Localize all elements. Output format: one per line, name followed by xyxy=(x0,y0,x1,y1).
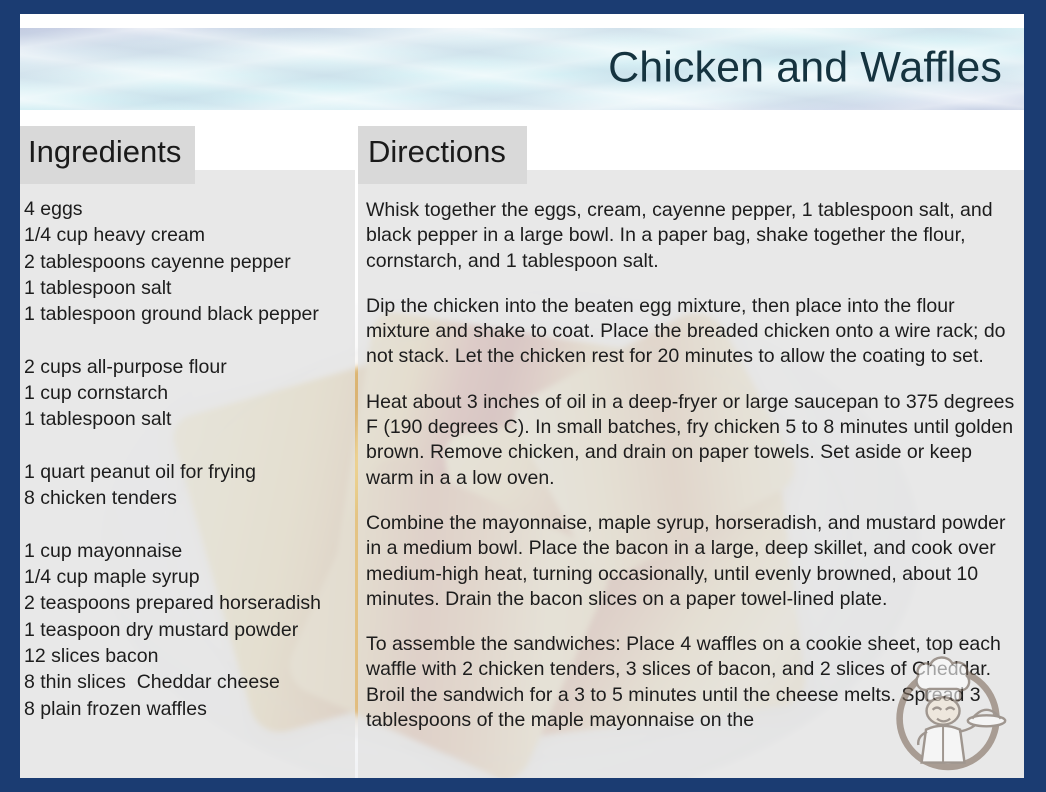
frame-top xyxy=(0,0,1046,14)
recipe-slide: Chicken and Waffles Ingredients 4 eggs 1… xyxy=(0,0,1046,792)
directions-heading: Directions xyxy=(368,136,506,167)
directions-steps: Whisk together the eggs, cream, cayenne … xyxy=(366,198,1016,733)
frame-left xyxy=(0,0,20,792)
page-title: Chicken and Waffles xyxy=(608,47,1002,90)
ingredients-heading: Ingredients xyxy=(28,136,181,167)
title-banner: Chicken and Waffles xyxy=(20,28,1024,110)
frame-right xyxy=(1024,0,1046,792)
frame-bottom xyxy=(0,778,1046,792)
slide-page: Chicken and Waffles Ingredients 4 eggs 1… xyxy=(20,14,1024,778)
ingredients-list: 4 eggs 1/4 cup heavy cream 2 tablespoons… xyxy=(24,196,362,722)
direction-step: Heat about 3 inches of oil in a deep-fry… xyxy=(366,390,1016,491)
direction-step: Combine the mayonnaise, maple syrup, hor… xyxy=(366,511,1016,612)
direction-step: Dip the chicken into the beaten egg mixt… xyxy=(366,294,1016,370)
direction-step: To assemble the sandwiches: Place 4 waff… xyxy=(366,632,1016,733)
direction-step: Whisk together the eggs, cream, cayenne … xyxy=(366,198,1016,274)
